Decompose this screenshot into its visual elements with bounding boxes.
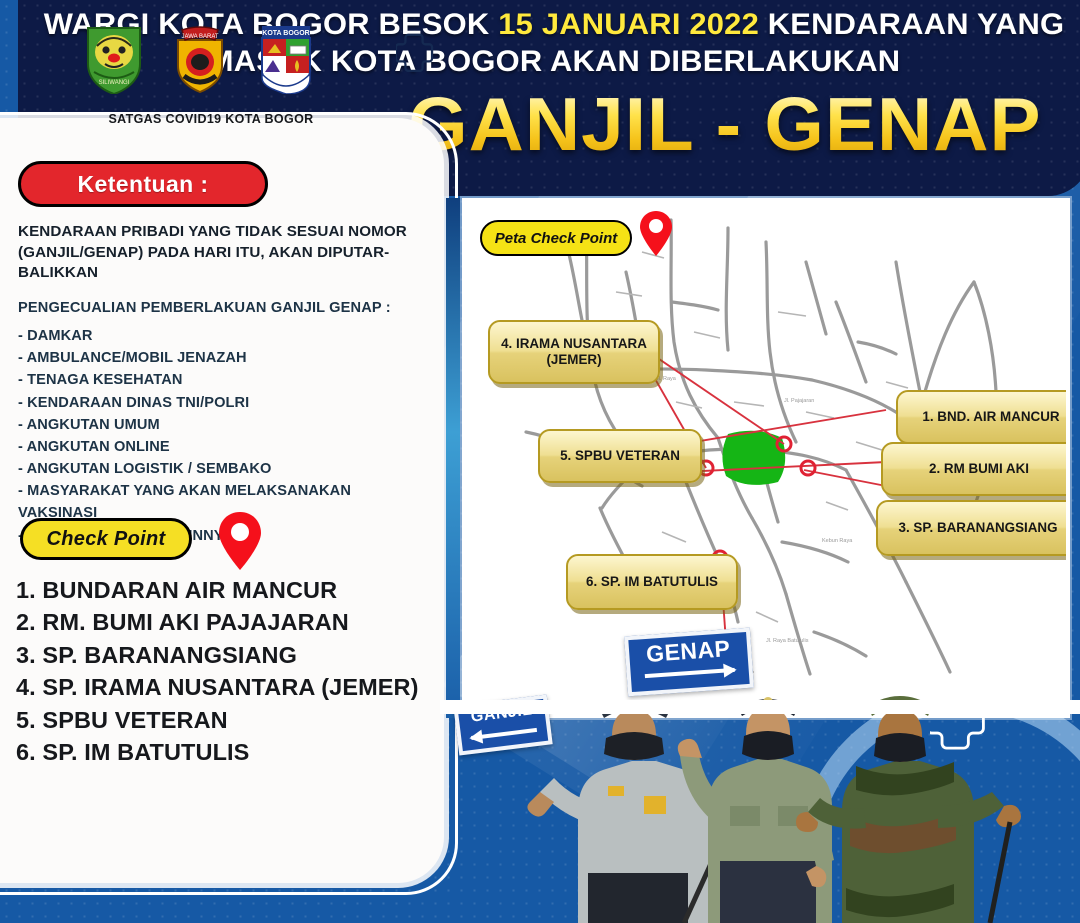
- list-item: - DAMKAR: [18, 325, 428, 347]
- poster-canvas: WARGI KOTA BOGOR BESOK 15 JANUARI 2022 K…: [0, 0, 1080, 923]
- kota-bogor-logo: KOTA BOGOR: [256, 22, 316, 94]
- list-item: 3. SP. BARANANGSIANG: [16, 639, 446, 671]
- ketentuan-body-text: KENDARAAN PRIBADI YANG TIDAK SESUAI NOMO…: [18, 222, 418, 284]
- ketentuan-badge-label: Ketentuan :: [78, 171, 209, 198]
- medical-cross-icon: [930, 690, 990, 750]
- list-item: 4. SP. IRAMA NUSANTARA (JEMER): [16, 671, 446, 703]
- map-callout-2[interactable]: 2. RM BUMI AKI: [881, 442, 1070, 496]
- list-item: - TENAGA KESEHATAN: [18, 369, 428, 391]
- map-panel-bottom-edge: [440, 700, 1080, 714]
- svg-text:Kebun Raya: Kebun Raya: [822, 538, 853, 544]
- jawa-barat-police-logo: JAWA BARAT: [170, 22, 230, 94]
- list-item: - ANGKUTAN LOGISTIK / SEMBAKO: [18, 458, 428, 480]
- map-callout-1[interactable]: 1. BND. AIR MANCUR: [896, 390, 1070, 444]
- svg-text:Jl. Raya: Jl. Raya: [656, 376, 677, 382]
- svg-text:JAWA BARAT: JAWA BARAT: [181, 34, 218, 40]
- peta-checkpoint-badge-label: Peta Check Point: [495, 230, 618, 247]
- map-pin-icon: [216, 510, 264, 572]
- ketentuan-badge: Ketentuan :: [18, 161, 268, 207]
- genap-sign: GENAP: [624, 628, 754, 697]
- checkpoint-list: 1. BUNDARAN AIR MANCUR 2. RM. BUMI AKI P…: [16, 574, 446, 769]
- map-callout-4[interactable]: 4. IRAMA NUSANTARA (JEMER): [488, 320, 660, 384]
- officials-illustration: [438, 610, 1080, 923]
- checkpoint-badge-label: Check Point: [47, 528, 166, 551]
- checkpoint-badge: Check Point: [20, 518, 192, 560]
- list-item: - ANGKUTAN UMUM: [18, 414, 428, 436]
- svg-text:Jl. Pajajaran: Jl. Pajajaran: [784, 398, 814, 404]
- list-item: - AMBULANCE/MOBIL JENAZAH: [18, 347, 428, 369]
- list-item: - ANGKUTAN ONLINE: [18, 436, 428, 458]
- svg-text:KOTA BOGOR: KOTA BOGOR: [262, 30, 309, 37]
- logo-row: SILIWANGI JAWA BARAT KOTA BOGOR: [84, 22, 316, 94]
- exception-title: PENGECUALIAN PEMBERLAKUAN GANJIL GENAP :: [18, 300, 418, 316]
- map-callout-3[interactable]: 3. SP. BARANANGSIANG: [876, 500, 1070, 556]
- siliwangi-logo: SILIWANGI: [84, 22, 144, 94]
- officials-photo-group: GENAP GANJIL: [438, 610, 1080, 923]
- map-callout-5[interactable]: 5. SPBU VETERAN: [538, 429, 702, 483]
- list-item: 5. SPBU VETERAN: [16, 704, 446, 736]
- list-item: 2. RM. BUMI AKI PAJAJARAN: [16, 606, 446, 638]
- list-item: 6. SP. IM BATUTULIS: [16, 736, 446, 768]
- map-callout-6[interactable]: 6. SP. IM BATUTULIS: [566, 554, 738, 610]
- arrow-right-icon: [645, 668, 735, 678]
- map-pin-icon: [638, 210, 674, 258]
- peta-checkpoint-badge: Peta Check Point: [480, 220, 632, 256]
- arrow-left-icon: [471, 728, 536, 740]
- medical-cross-icon: [396, 32, 436, 72]
- list-item: 1. BUNDARAN AIR MANCUR: [16, 574, 446, 606]
- svg-text:SILIWANGI: SILIWANGI: [99, 80, 130, 86]
- satgas-caption: SATGAS COVID19 KOTA BOGOR: [86, 112, 336, 126]
- list-item: - KENDARAAN DINAS TNI/POLRI: [18, 392, 428, 414]
